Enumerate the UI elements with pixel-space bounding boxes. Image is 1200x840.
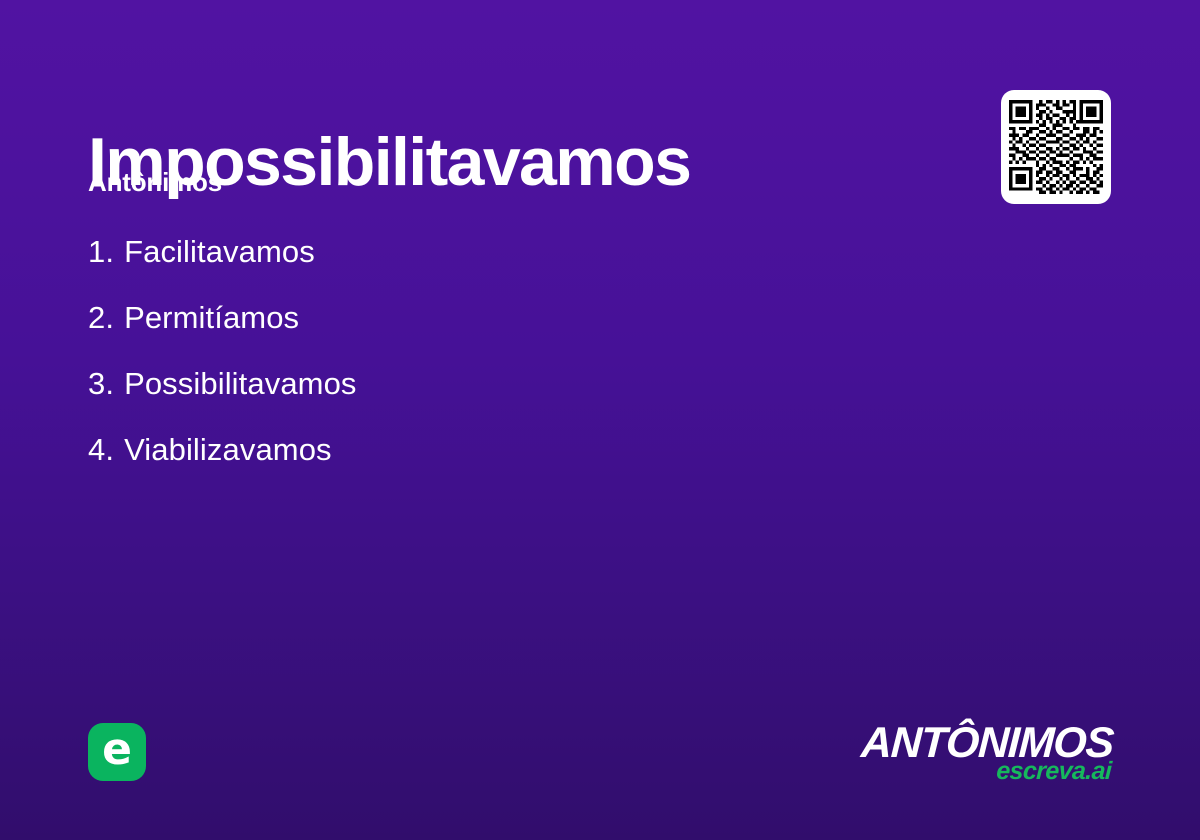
list-item: 3. Possibilitavamos [88,368,357,434]
qr-code-icon[interactable] [1009,100,1103,194]
list-item-index: 2. [88,302,114,333]
list-item-word: Permitíamos [124,302,299,333]
app-badge-letter: e [102,728,132,772]
list-item-word: Possibilitavamos [124,368,356,399]
antonym-list: 1. Facilitavamos 2. Permitíamos 3. Possi… [88,236,357,500]
list-item-word: Facilitavamos [124,236,315,267]
brand-subdomain: escreva.ai [859,759,1112,784]
list-item-index: 4. [88,434,114,465]
list-item-word: Viabilizavamos [124,434,332,465]
brand-lockup: ANTÔNIMOS escreva.ai [860,722,1112,784]
antonyms-share-card: Impossibilitavamos Antônimos 1. Facilita… [0,0,1200,840]
qr-code-card[interactable] [1001,90,1111,204]
list-item: 2. Permitíamos [88,302,357,368]
list-item: 4. Viabilizavamos [88,434,357,500]
list-item-index: 3. [88,368,114,399]
escreva-app-badge[interactable]: e [88,723,146,781]
list-item: 1. Facilitavamos [88,236,357,302]
list-item-index: 1. [88,236,114,267]
page-subtitle: Antônimos [88,168,222,197]
